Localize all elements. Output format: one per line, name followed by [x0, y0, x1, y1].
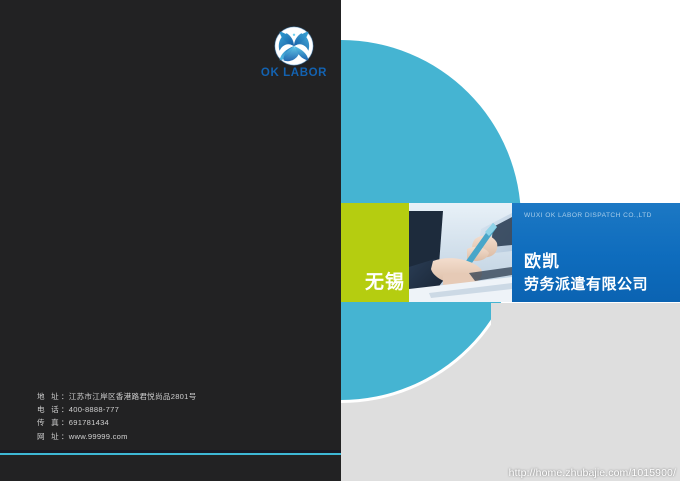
brochure-cover-page: 地 址：江苏市江岸区香港路君悦尚品2801号 电 话：400-8888-777 …: [0, 0, 680, 481]
contact-line-phone: 电 话：400-8888-777: [37, 403, 317, 416]
company-name-chinese-short: 欧凯: [524, 247, 560, 272]
company-name-chinese-full: 劳务派遣有限公司: [524, 273, 648, 294]
company-logo: OK LABOR: [249, 26, 339, 84]
contact-value-phone: 400-8888-777: [69, 405, 119, 414]
contact-value-website: www.99999.com: [69, 432, 128, 441]
contact-line-fax: 传 真：691781434: [37, 416, 317, 429]
contact-line-address: 地 址：江苏市江岸区香港路君悦尚品2801号: [37, 390, 317, 403]
business-photo: [409, 203, 512, 302]
contact-label-address: 地 址: [37, 392, 61, 401]
cyan-divider-rule: [0, 453, 341, 455]
company-name-banner: WUXI OK LABOR DISPATCH CO.,LTD 欧凯 劳务派遣有限…: [512, 203, 680, 302]
company-name-english: WUXI OK LABOR DISPATCH CO.,LTD: [524, 212, 652, 219]
contact-label-fax: 传 真: [37, 418, 61, 427]
contact-info-block: 地 址：江苏市江岸区香港路君悦尚品2801号 电 话：400-8888-777 …: [37, 390, 317, 443]
contact-sep-fax: ：: [61, 418, 69, 427]
city-label: 无锡: [341, 267, 405, 294]
contact-label-website: 网 址: [37, 432, 61, 441]
contact-sep-website: ：: [61, 432, 69, 441]
city-badge: 无锡: [341, 203, 409, 302]
contact-value-address: 江苏市江岸区香港路君悦尚品2801号: [69, 392, 197, 401]
logo-wordmark: OK LABOR: [249, 67, 339, 80]
grey-background-field-right: [491, 303, 680, 481]
watermark-url: http://home.zhubajie.com/1015900/: [509, 467, 676, 479]
center-identity-band: 无锡: [341, 203, 680, 302]
contact-sep-phone: ：: [61, 405, 69, 414]
contact-sep-address: ：: [61, 392, 69, 401]
contact-line-website: 网 址：www.99999.com: [37, 430, 317, 443]
contact-value-fax: 691781434: [69, 418, 109, 427]
contact-label-phone: 电 话: [37, 405, 61, 414]
business-photo-illustration: [409, 203, 512, 302]
ok-labor-emblem-icon: [274, 26, 314, 66]
